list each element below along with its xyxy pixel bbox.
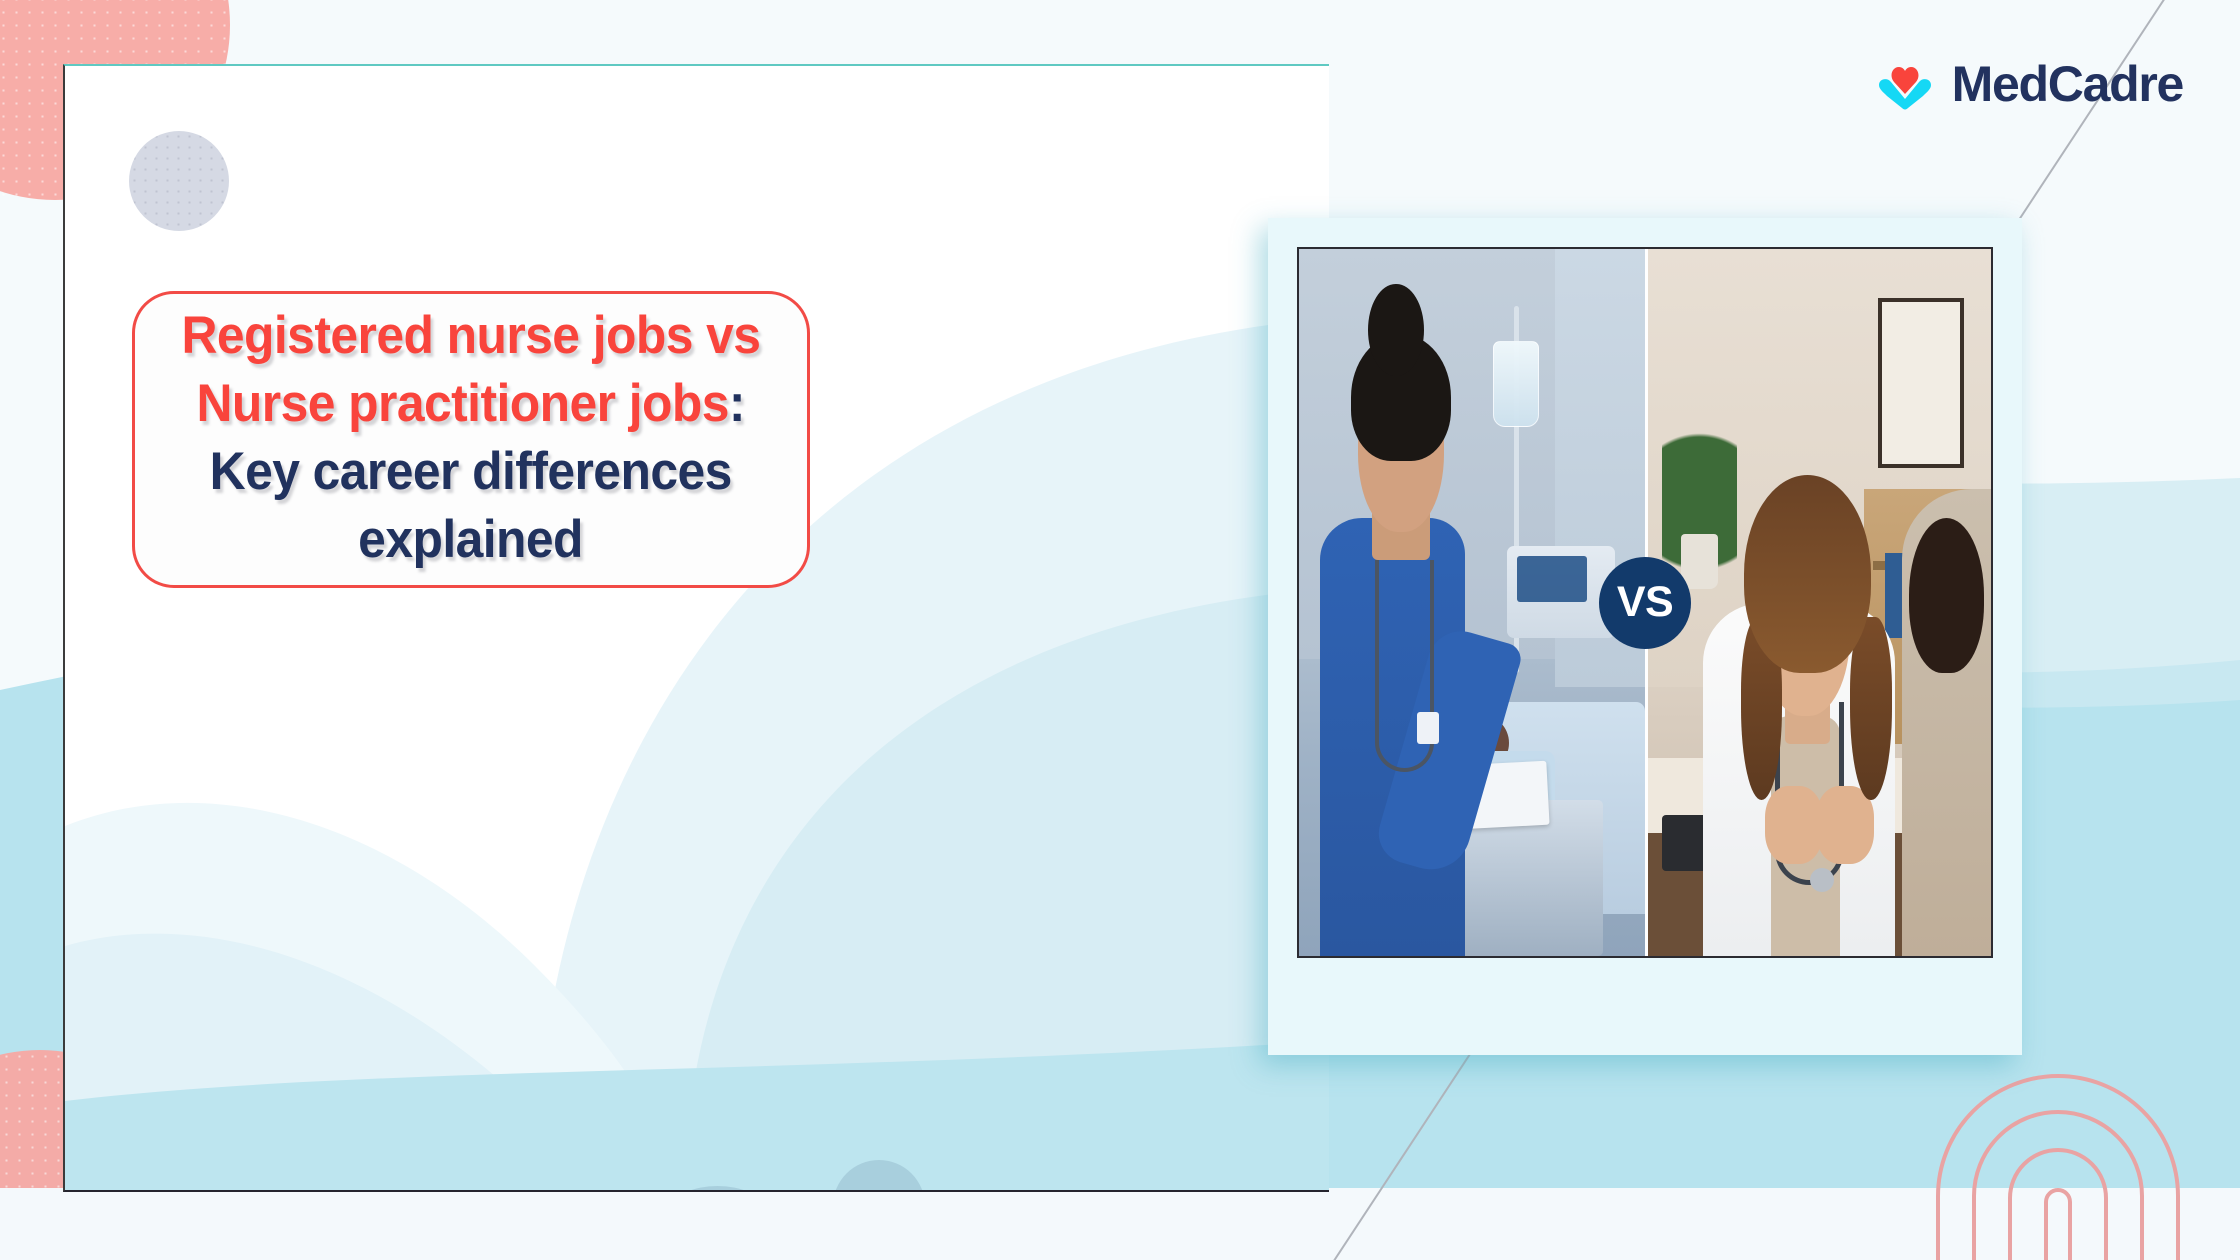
comparison-photo-frame: VS bbox=[1268, 218, 2022, 1055]
title-line-2: Nurse practitioner jobs: bbox=[197, 370, 745, 438]
title-line-3: Key career differences bbox=[210, 438, 732, 506]
title-line-2-text: Nurse practitioner jobs bbox=[197, 374, 729, 433]
patient-monitor-icon bbox=[1507, 546, 1615, 638]
id-badge-icon bbox=[1417, 712, 1439, 744]
nurse-hair-bun bbox=[1368, 284, 1423, 376]
title-line-2-colon: : bbox=[729, 374, 745, 433]
title-line-4: explained bbox=[359, 506, 584, 574]
seated-patient-head bbox=[1909, 518, 1984, 674]
card-wave-decorations bbox=[65, 66, 1329, 1190]
nurse-practitioner-photo bbox=[1645, 249, 1991, 956]
versus-badge: VS bbox=[1599, 557, 1691, 649]
card-wave-svg bbox=[65, 66, 1329, 1190]
framed-diploma-icon bbox=[1878, 298, 1964, 468]
iv-bag-icon bbox=[1493, 341, 1539, 427]
registered-nurse-photo bbox=[1299, 249, 1645, 956]
concentric-arcs-decoration bbox=[1928, 1026, 2240, 1260]
brand-name: MedCadre bbox=[1952, 59, 2183, 109]
title-line-1: Registered nurse jobs vs bbox=[182, 302, 761, 370]
bottom-band bbox=[0, 1188, 2240, 1260]
title-plate: Registered nurse jobs vs Nurse practitio… bbox=[132, 291, 810, 588]
clinic-scene bbox=[1648, 249, 1991, 956]
potted-plant-icon bbox=[1662, 383, 1737, 581]
practitioner-hair bbox=[1744, 475, 1871, 673]
lavender-circle-decoration bbox=[129, 131, 229, 231]
hospital-scene bbox=[1299, 249, 1645, 956]
content-card bbox=[63, 64, 1329, 1192]
poster-canvas: Registered nurse jobs vs Nurse practitio… bbox=[0, 0, 2240, 1260]
dot-texture bbox=[129, 131, 229, 231]
heart-chevron-logo-icon bbox=[1875, 58, 1935, 110]
practitioner-left-hand bbox=[1765, 786, 1823, 864]
brand-logo[interactable]: MedCadre bbox=[1875, 58, 2183, 110]
comparison-photo-pair: VS bbox=[1297, 247, 1993, 958]
